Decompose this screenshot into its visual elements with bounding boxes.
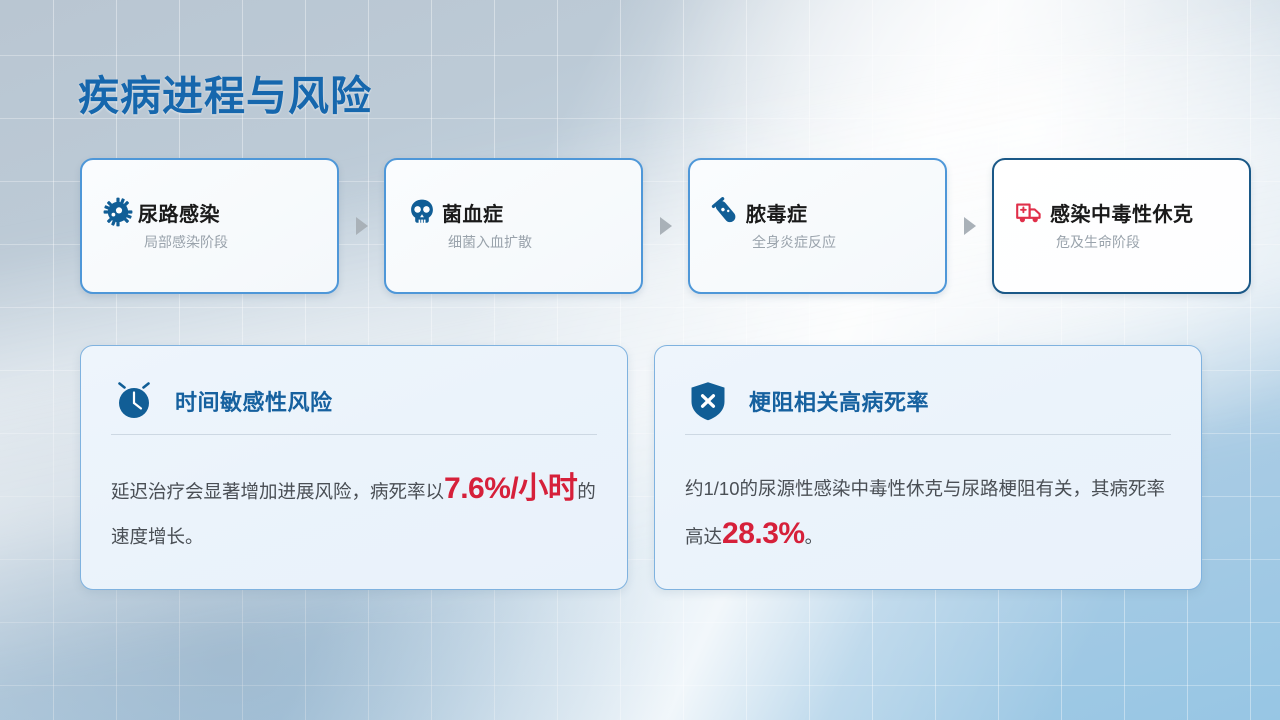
stage-header: 感染中毒性休克 bbox=[1014, 196, 1194, 228]
panel-divider bbox=[111, 434, 597, 435]
triangle-right-icon bbox=[339, 158, 384, 294]
stage-card-sepsis[interactable]: 脓毒症 全身炎症反应 bbox=[688, 158, 947, 294]
stage-subtitle: 细菌入血扩散 bbox=[448, 232, 532, 252]
page-title: 疾病进程与风险 bbox=[78, 62, 372, 122]
stage-subtitle: 危及生命阶段 bbox=[1056, 232, 1140, 252]
stage-name: 菌血症 bbox=[442, 198, 504, 227]
risk-panel-obstruction[interactable]: 梗阻相关高病死率 约1/10的尿源性感染中毒性休克与尿路梗阻有关，其病死率高达2… bbox=[654, 345, 1202, 590]
stage-header: 尿路感染 bbox=[102, 196, 220, 228]
panel-body: 延迟治疗会显著增加进展风险，病死率以7.6%/小时的速度增长。 bbox=[111, 466, 603, 559]
panel-body-post: 。 bbox=[805, 526, 824, 547]
stage-subtitle: 局部感染阶段 bbox=[144, 232, 228, 252]
stage-subtitle: 全身炎症反应 bbox=[752, 232, 836, 252]
panel-body: 约1/10的尿源性感染中毒性休克与尿路梗阻有关，其病死率高达28.3%。 bbox=[685, 466, 1177, 559]
panel-header: 时间敏感性风险 bbox=[111, 378, 333, 424]
alarm-clock-icon bbox=[111, 378, 157, 424]
stage-header: 菌血症 bbox=[406, 196, 504, 228]
panel-title: 时间敏感性风险 bbox=[175, 385, 333, 417]
triangle-right-icon bbox=[947, 158, 992, 294]
stage-card-bacteremia[interactable]: 菌血症 细菌入血扩散 bbox=[384, 158, 643, 294]
slide-canvas: 疾病进程与风险 bbox=[0, 0, 1280, 720]
stage-name: 尿路感染 bbox=[138, 198, 220, 227]
panel-body-pre: 延迟治疗会显著增加进展风险，病死率以 bbox=[111, 481, 444, 502]
progression-flow: 尿路感染 局部感染阶段 bbox=[80, 158, 1210, 294]
panel-title: 梗阻相关高病死率 bbox=[749, 385, 929, 417]
stage-name: 感染中毒性休克 bbox=[1050, 198, 1194, 227]
stage-header: 脓毒症 bbox=[710, 196, 808, 228]
stage-name: 脓毒症 bbox=[746, 198, 808, 227]
panel-divider bbox=[685, 434, 1171, 435]
test-tube-icon bbox=[710, 196, 742, 228]
shield-x-icon bbox=[685, 378, 731, 424]
stage-card-septic-shock[interactable]: 感染中毒性休克 危及生命阶段 bbox=[992, 158, 1251, 294]
panel-header: 梗阻相关高病死率 bbox=[685, 378, 929, 424]
triangle-right-icon bbox=[643, 158, 688, 294]
skull-icon bbox=[406, 196, 438, 228]
stage-card-uti[interactable]: 尿路感染 局部感染阶段 bbox=[80, 158, 339, 294]
ambulance-icon bbox=[1014, 196, 1046, 228]
bacteria-gear-icon bbox=[102, 196, 134, 228]
panel-body-highlight: 28.3% bbox=[722, 517, 805, 550]
risk-panel-time-sensitive[interactable]: 时间敏感性风险 延迟治疗会显著增加进展风险，病死率以7.6%/小时的速度增长。 bbox=[80, 345, 628, 590]
panel-body-highlight: 7.6%/小时 bbox=[444, 472, 577, 505]
